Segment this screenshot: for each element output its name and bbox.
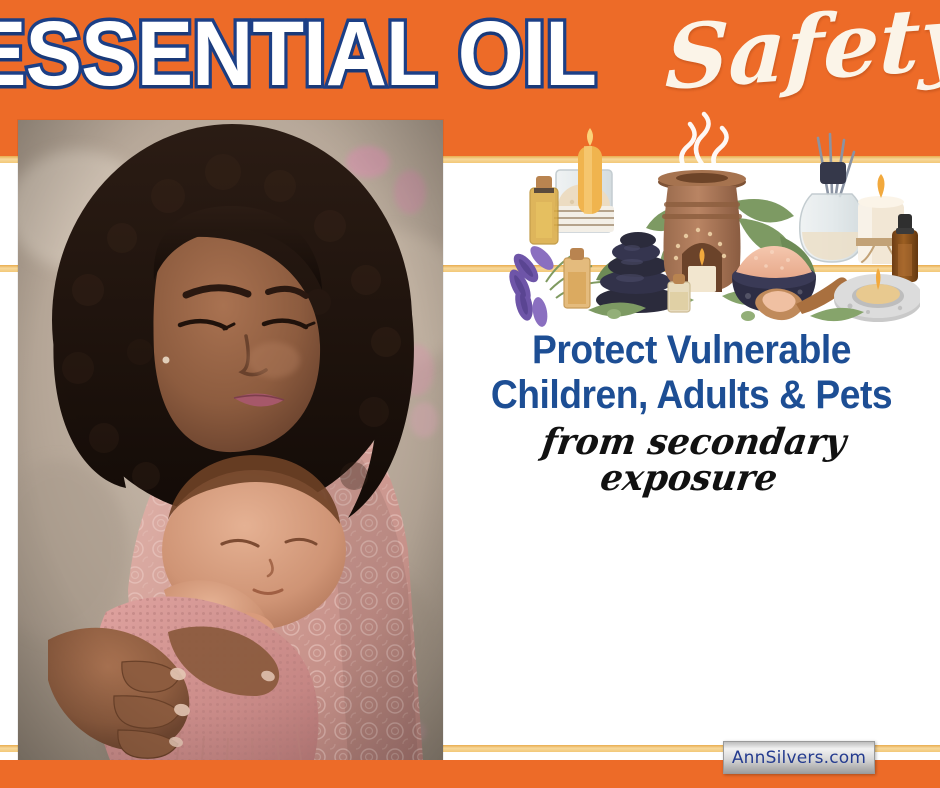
site-logo-text: AnnSilvers.com [732, 748, 866, 768]
subheadline-block: Protect Vulnerable Children, Adults & Pe… [443, 328, 940, 496]
headline-script-text: Safety [664, 0, 940, 102]
poster-canvas: ESSENTIAL OIL Safety [0, 0, 940, 788]
subheadline-script-line: from secondary exposure [445, 424, 937, 496]
mother-and-baby-photo [18, 120, 443, 760]
headline-main-text: ESSENTIAL OIL [0, 8, 596, 100]
site-logo-badge[interactable]: AnnSilvers.com [723, 741, 875, 774]
aromatherapy-illustration [480, 110, 920, 335]
subheadline-line-2: Children, Adults & Pets [460, 373, 922, 418]
subheadline-line-1: Protect Vulnerable [460, 328, 922, 373]
